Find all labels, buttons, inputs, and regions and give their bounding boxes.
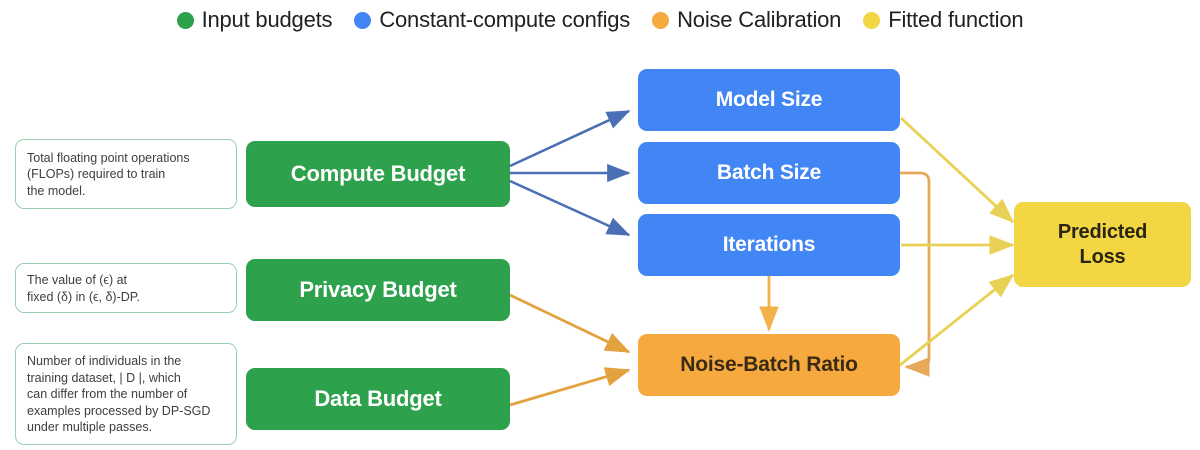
edge-data-budget-to-noise-batch-ratio [510, 370, 629, 405]
edge-batch-size-to-noise-batch-ratio [899, 173, 929, 367]
node-predicted-loss[interactable]: Predicted Loss [1014, 202, 1191, 287]
node-privacy-budget[interactable]: Privacy Budget [246, 259, 510, 321]
node-batch-size-label: Batch Size [717, 161, 821, 185]
note-compute-budget: Total floating point operations (FLOPs) … [15, 139, 237, 209]
node-predicted-loss-label-line-1: Predicted [1058, 220, 1147, 244]
node-predicted-loss-label-line-2: Loss [1058, 245, 1147, 269]
node-iterations[interactable]: Iterations [638, 214, 900, 276]
note-privacy-budget: The value of (ϵ) at fixed (δ) in (ϵ, δ)-… [15, 263, 237, 313]
note-data-budget: Number of individuals in the training da… [15, 343, 237, 445]
note-data-line-2: training dataset, | D |, which [27, 370, 210, 387]
node-data-budget-label: Data Budget [314, 386, 441, 412]
edge-privacy-budget-to-noise-batch-ratio [510, 295, 629, 352]
note-privacy-line-1: The value of (ϵ) at [27, 272, 140, 289]
edge-compute-budget-to-iterations [510, 181, 629, 235]
note-compute-line-3: the model. [27, 183, 190, 200]
note-privacy-line-2: fixed (δ) in (ϵ, δ)-DP. [27, 289, 140, 306]
node-model-size[interactable]: Model Size [638, 69, 900, 131]
node-iterations-label: Iterations [723, 233, 816, 257]
node-model-size-label: Model Size [716, 88, 823, 112]
note-data-line-5: under multiple passes. [27, 419, 210, 436]
note-compute-line-1: Total floating point operations [27, 150, 190, 167]
node-noise-batch-ratio[interactable]: Noise-Batch Ratio [638, 334, 900, 396]
node-compute-budget-label: Compute Budget [291, 161, 465, 187]
node-data-budget[interactable]: Data Budget [246, 368, 510, 430]
note-data-line-1: Number of individuals in the [27, 353, 210, 370]
edge-model-size-to-predicted-loss [901, 118, 1013, 222]
node-noise-batch-ratio-label: Noise-Batch Ratio [680, 353, 857, 377]
node-batch-size[interactable]: Batch Size [638, 142, 900, 204]
edge-compute-budget-to-model-size [510, 111, 629, 166]
node-privacy-budget-label: Privacy Budget [299, 277, 456, 303]
note-data-line-3: can differ from the number of [27, 386, 210, 403]
node-compute-budget[interactable]: Compute Budget [246, 141, 510, 207]
note-compute-line-2: (FLOPs) required to train [27, 166, 190, 183]
note-data-line-4: examples processed by DP-SGD [27, 403, 210, 420]
